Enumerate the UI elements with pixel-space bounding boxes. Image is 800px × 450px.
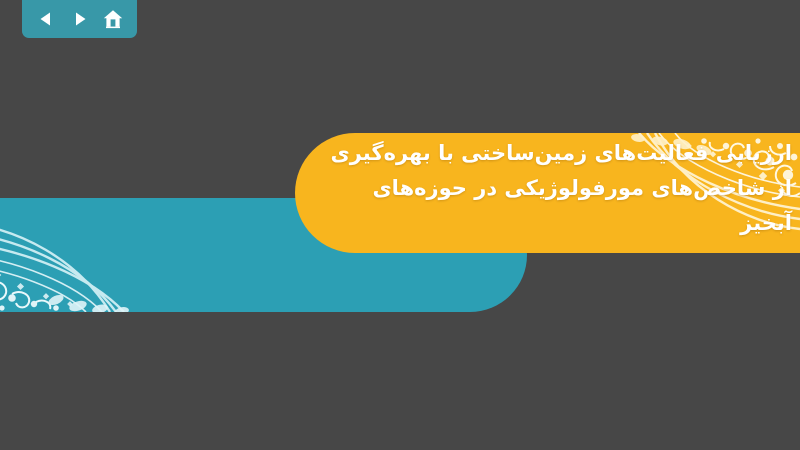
home-icon <box>102 8 124 30</box>
title-line-2: از شاخص‌های مورفولوژیکی در حوزه‌های <box>328 171 792 206</box>
arabesque-corner-ornament <box>0 198 200 312</box>
title-line-1: ارزیابی فعالیت‌های زمین‌ساختی با بهره‌گی… <box>328 136 792 171</box>
home-button[interactable] <box>100 6 126 32</box>
triangle-left-icon <box>37 10 55 28</box>
triangle-right-icon <box>71 10 89 28</box>
slide-title: ارزیابی فعالیت‌های زمین‌ساختی با بهره‌گی… <box>322 136 792 241</box>
navigation-bar <box>22 0 137 38</box>
forward-button[interactable] <box>67 6 93 32</box>
back-button[interactable] <box>33 6 59 32</box>
title-line-3: آبخیز <box>328 206 792 241</box>
presentation-slide: ارزیابی فعالیت‌های زمین‌ساختی با بهره‌گی… <box>0 0 800 450</box>
